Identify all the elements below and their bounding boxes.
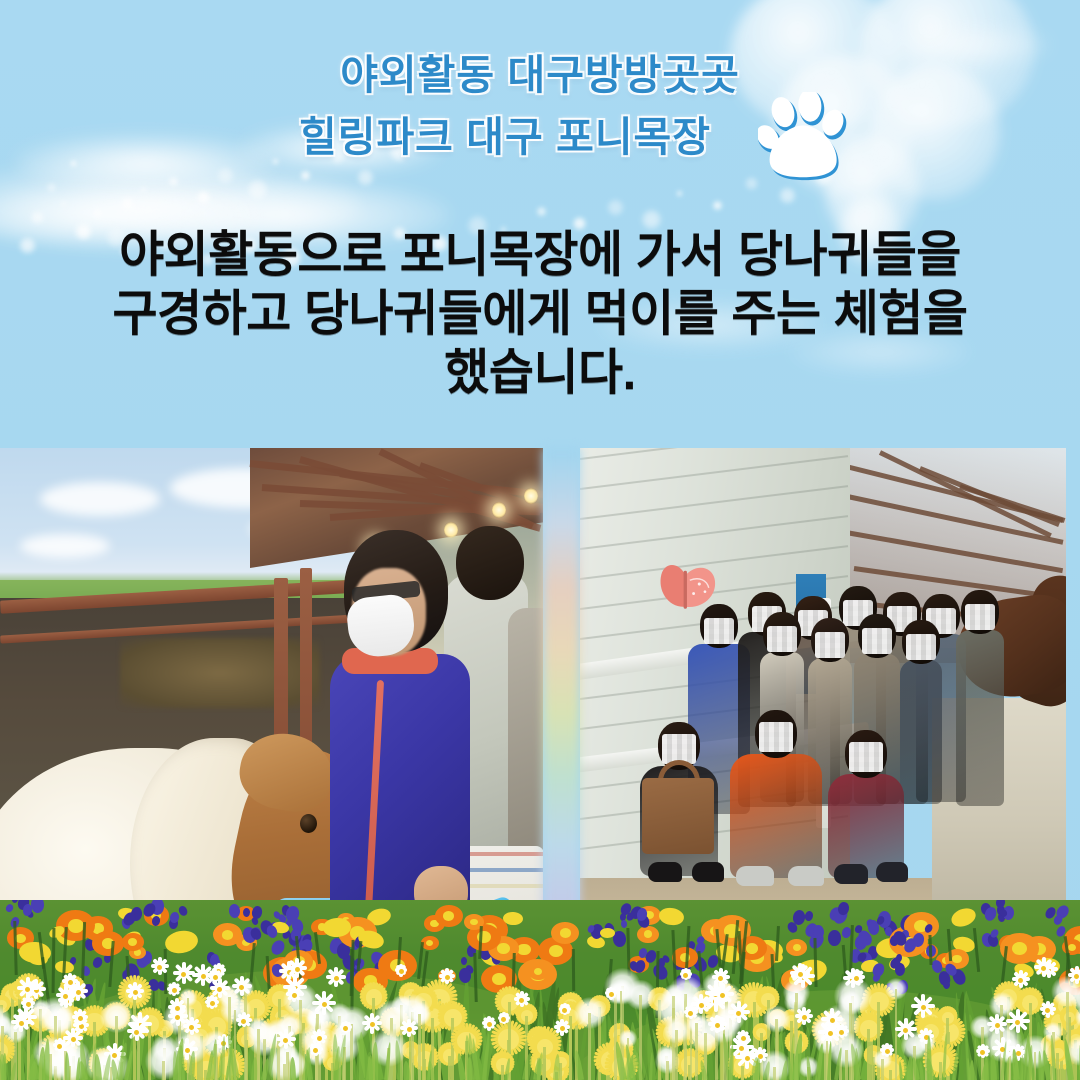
brown-handbag xyxy=(642,778,714,854)
body-line-1: 야외활동으로 포니목장에 가서 당나귀들을 xyxy=(70,226,1010,285)
background-visitor-2 xyxy=(508,608,543,858)
hay-pile xyxy=(120,638,320,708)
pony-eye xyxy=(300,814,317,833)
body-line-3: 했습니다. xyxy=(70,344,1010,403)
poster-body-text: 야외활동으로 포니목장에 가서 당나귀들을 구경하고 당나귀들에게 먹이를 주는… xyxy=(0,226,1080,403)
meadow-footer-decor xyxy=(0,900,1080,1080)
background-visitor-1-head xyxy=(456,526,524,600)
poster-card: 야외활동 대구방방곳곳 힐링파크 대구 포니목장 야외활동으로 포니목장에 가서… xyxy=(0,0,1080,1080)
title-line-1: 야외활동 대구방방곳곳 xyxy=(0,44,1080,106)
paw-print-icon xyxy=(758,92,854,184)
title-line-2: 힐링파크 대구 포니목장 xyxy=(0,106,1080,168)
body-line-2: 구경하고 당나귀들에게 먹이를 주는 체험을 xyxy=(70,285,1010,344)
poster-title: 야외활동 대구방방곳곳 힐링파크 대구 포니목장 xyxy=(0,44,1080,168)
